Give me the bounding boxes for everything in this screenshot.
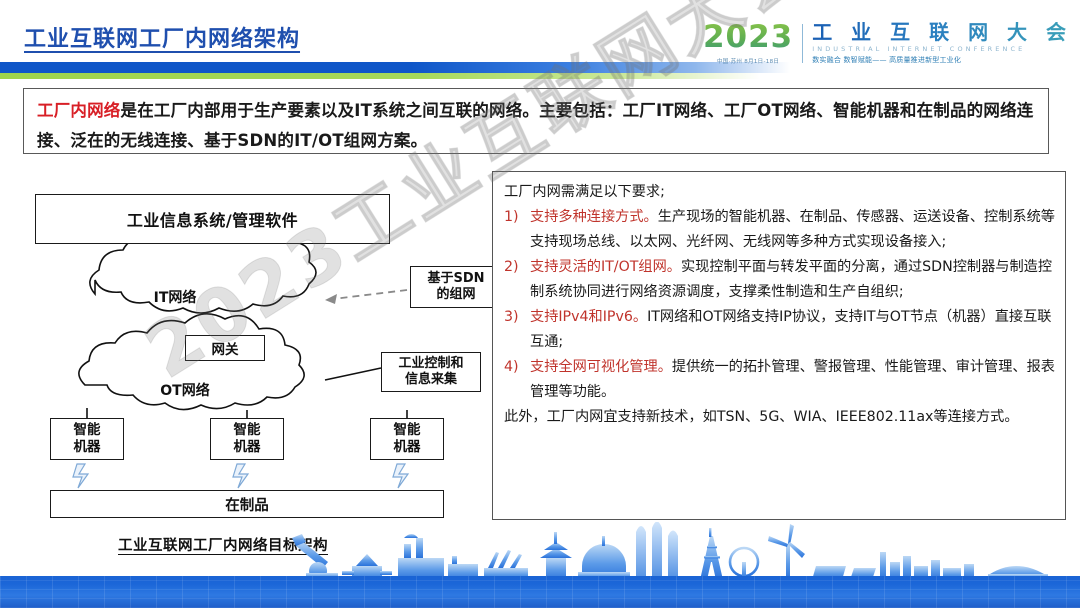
diagram-box-smart-machine-3: 智能 机器 (370, 418, 444, 460)
ctrl-note-line-2: 信息来集 (405, 372, 457, 388)
requirement-body: 支持多种连接方式。生产现场的智能机器、在制品、传感器、运送设备、控制系统等支持现… (530, 205, 1057, 255)
requirement-number: 2) (504, 255, 530, 305)
requirement-body: 支持全网可视化管理。提供统一的拓扑管理、警报管理、性能管理、审计管理、报表管理等… (530, 355, 1057, 405)
page-title: 工业互联网工厂内网络架构 (24, 21, 300, 53)
machine2-line-2: 机器 (234, 439, 261, 456)
requirement-lead: 支持多种连接方式。 (530, 209, 658, 225)
diagram-note-industrial-control: 工业控制和 信息来集 (381, 352, 481, 392)
requirement-number: 1) (504, 205, 530, 255)
definition-body: 是在工厂内部用于生产要素以及IT系统之间互联的网络。主要包括：工厂IT网络、工厂… (37, 101, 1033, 150)
logo-slogan: 数实融合 数智赋能—— 高质量推进新型工业化 (812, 55, 1072, 65)
header-green-rule (0, 73, 760, 79)
machine1-line-2: 机器 (74, 439, 101, 456)
diagram-box-gateway: 网关 (185, 335, 265, 361)
requirement-lead: 支持灵活的IT/OT组网。 (530, 259, 681, 275)
logo-name-block: 工 业 互 联 网 大 会 INDUSTRIAL INTERNET CONFER… (803, 22, 1072, 65)
ctrl-note-line-1: 工业控制和 (398, 356, 463, 372)
machine2-line-1: 智能 (234, 422, 261, 439)
requirements-tail: 此外，工厂内网宜支持新技术，如TSN、5G、WIA、IEEE802.11ax等连… (504, 405, 1057, 430)
footer-blue-band (0, 576, 1080, 608)
requirement-body: 支持灵活的IT/OT组网。实现控制平面与转发平面的分离，通过SDN控制器与制造控… (530, 255, 1057, 305)
requirement-lead: 支持全网可视化管理。 (530, 359, 672, 375)
conference-logo: 2023 中国·苏州 8月1日-18日 工 业 互 联 网 大 会 INDUST… (703, 22, 1072, 65)
requirement-item: 1) 支持多种连接方式。生产现场的智能机器、在制品、传感器、运送设备、控制系统等… (504, 205, 1057, 255)
logo-year-block: 2023 中国·苏州 8月1日-18日 (703, 22, 802, 65)
machine1-line-1: 智能 (74, 422, 101, 439)
requirement-item: 3) 支持IPv4和IPv6。IT网络和OT网络支持IP协议，支持IT与OT节点… (504, 305, 1057, 355)
diagram-cloud-it-label: IT网络 (25, 287, 325, 307)
definition-text: 工厂内网络是在工厂内部用于生产要素以及IT系统之间互联的网络。主要包括：工厂IT… (37, 96, 1036, 156)
machine3-line-1: 智能 (394, 422, 421, 439)
requirement-lead: 支持IPv4和IPv6。 (530, 309, 647, 325)
footer-decoration (0, 548, 1080, 608)
diagram-box-smart-machine-1: 智能 机器 (50, 418, 124, 460)
diagram-box-work-in-progress: 在制品 (50, 490, 444, 518)
requirements-box: 工厂内网需满足以下要求; 1) 支持多种连接方式。生产现场的智能机器、在制品、传… (492, 171, 1066, 520)
header-blue-rule (0, 62, 790, 73)
requirement-body: 支持IPv4和IPv6。IT网络和OT网络支持IP协议，支持IT与OT节点（机器… (530, 305, 1057, 355)
requirement-item: 2) 支持灵活的IT/OT组网。实现控制平面与转发平面的分离，通过SDN控制器与… (504, 255, 1057, 305)
machine3-line-2: 机器 (394, 439, 421, 456)
logo-date: 中国·苏州 8月1日-18日 (703, 57, 793, 65)
slide-root: 工业互联网工厂内网络架构 2023 中国·苏州 8月1日-18日 工 业 互 联… (0, 0, 1080, 608)
requirement-number: 3) (504, 305, 530, 355)
sdn-note-line-2: 的组网 (436, 287, 475, 303)
network-architecture-diagram: 工业信息系统/管理软件 IT网络 网关 OT网络 基于SDN 的组网 工业控制和… (25, 172, 480, 522)
sdn-note-line-1: 基于SDN (427, 271, 484, 287)
requirement-number: 4) (504, 355, 530, 405)
definition-box: 工厂内网络是在工厂内部用于生产要素以及IT系统之间互联的网络。主要包括：工厂IT… (23, 88, 1049, 154)
diagram-box-smart-machine-2: 智能 机器 (210, 418, 284, 460)
diagram-note-sdn: 基于SDN 的组网 (410, 266, 502, 308)
logo-year: 2023 (703, 22, 793, 53)
logo-name-cn: 工 业 互 联 网 大 会 (812, 22, 1072, 43)
requirements-intro: 工厂内网需满足以下要求; (504, 180, 1057, 205)
diagram-box-info-system: 工业信息系统/管理软件 (35, 194, 390, 244)
logo-name-en: INDUSTRIAL INTERNET CONFERENCE (812, 45, 1072, 53)
requirement-item: 4) 支持全网可视化管理。提供统一的拓扑管理、警报管理、性能管理、审计管理、报表… (504, 355, 1057, 405)
diagram-cloud-ot-label: OT网络 (25, 380, 345, 400)
skyline-silhouette-icon (0, 522, 1080, 580)
definition-keyword: 工厂内网络 (37, 101, 121, 120)
